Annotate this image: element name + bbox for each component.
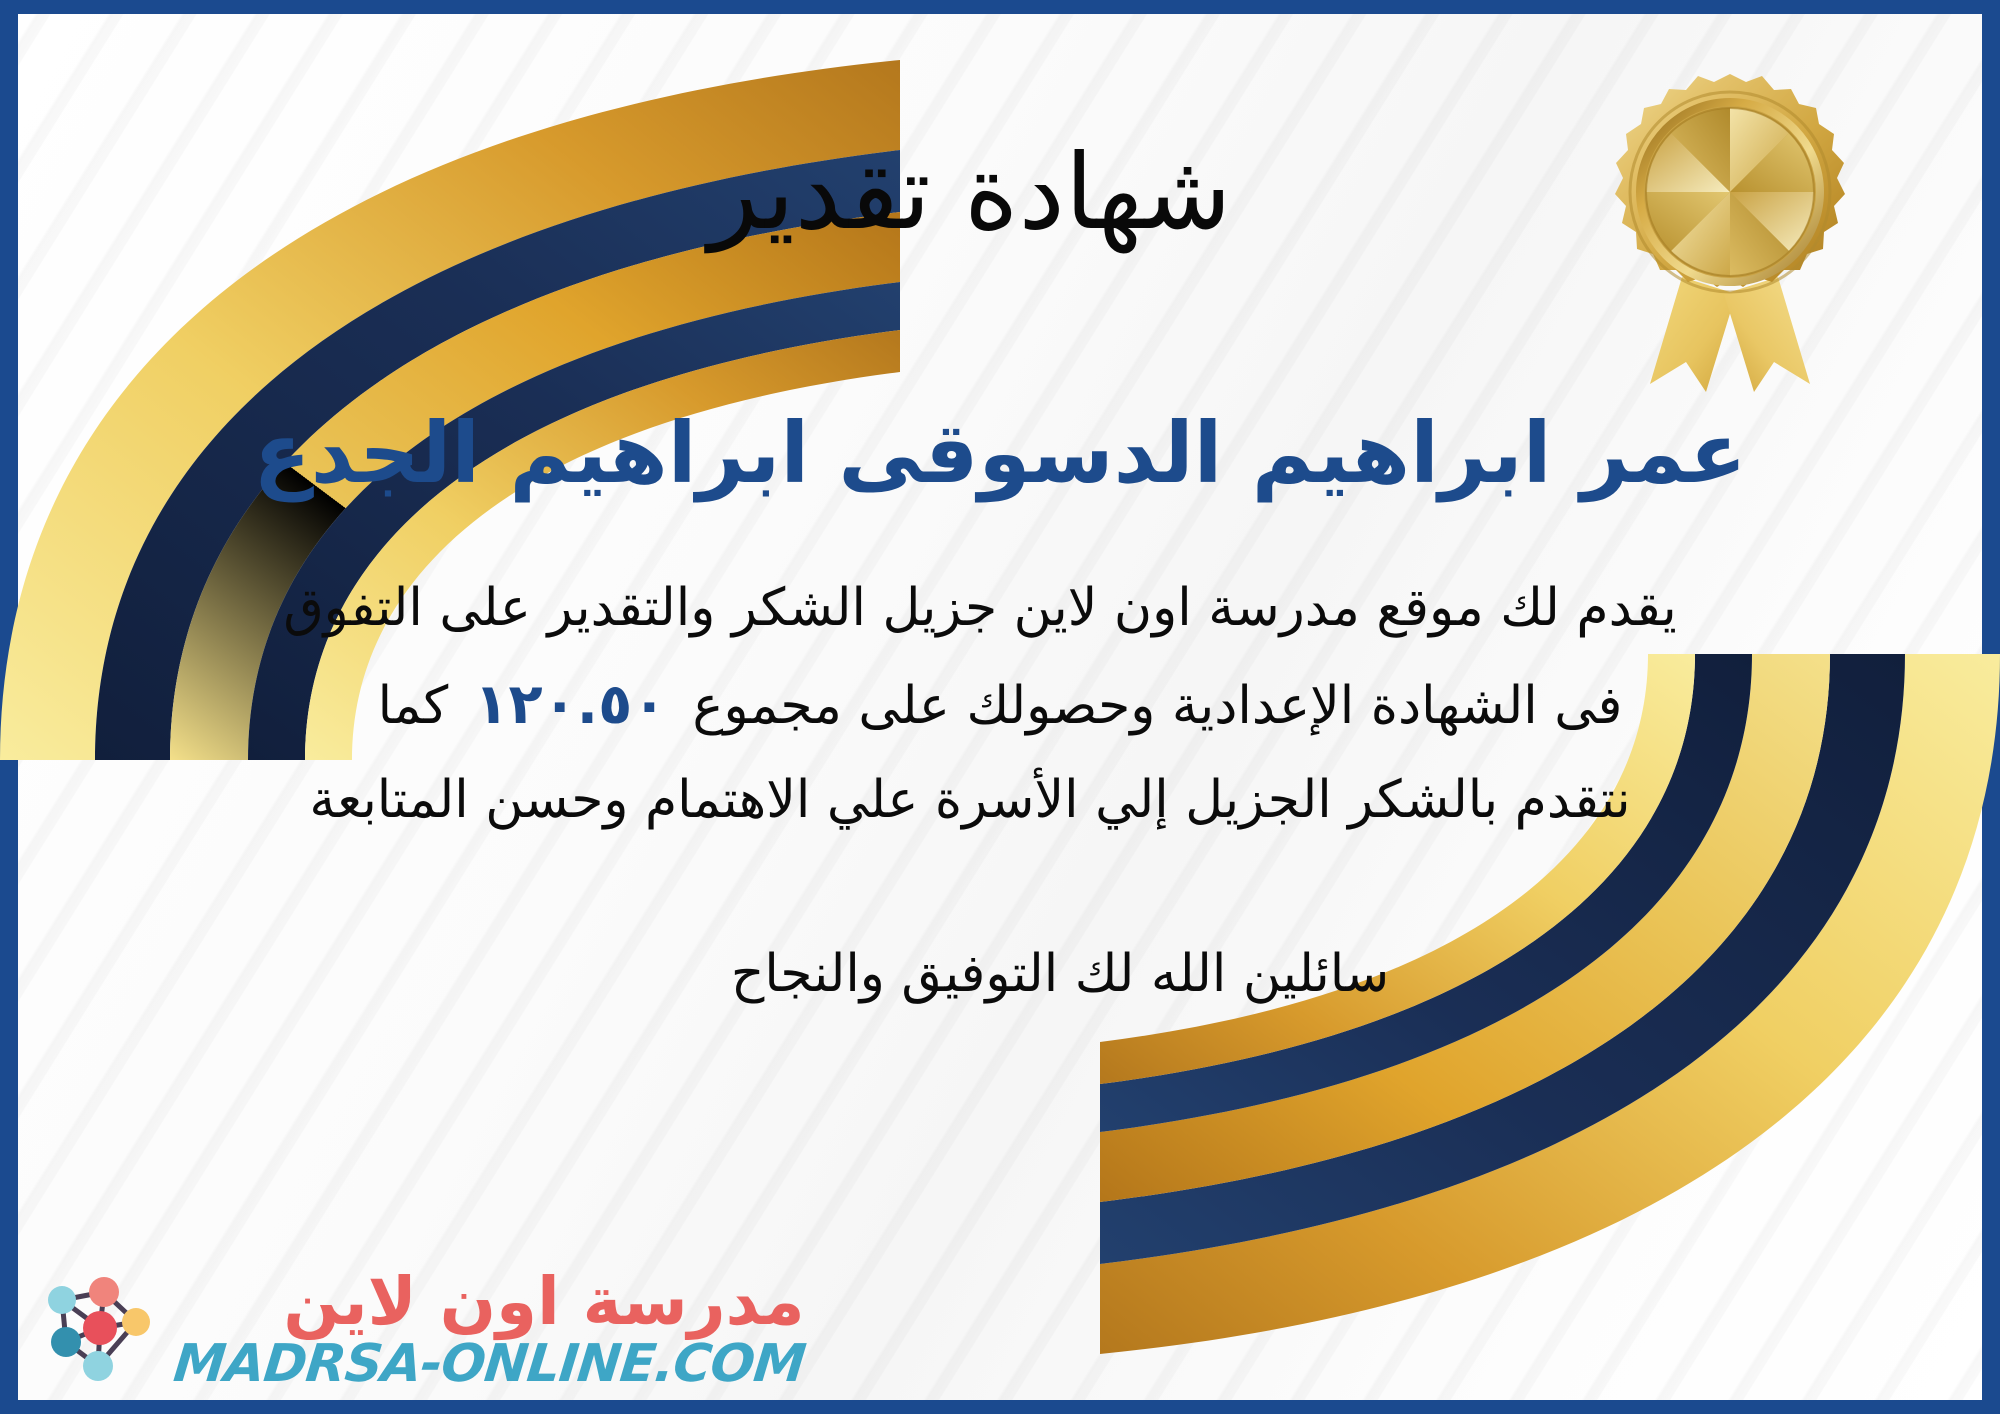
logo-website-url: MADRSA-ONLINE.COM — [171, 1337, 807, 1392]
network-nodes-icon — [32, 1266, 160, 1394]
body-line-2-suffix: كما — [378, 676, 449, 736]
student-name: عمر ابراهيم الدسوقى ابراهيم الجدع — [213, 406, 1786, 500]
certificate-body: يقدم لك موقع مدرسة اون لاين جزيل الشكر و… — [120, 562, 1880, 847]
body-line-3: نتقدم بالشكر الجزيل إلي الأسرة علي الاهت… — [120, 754, 1880, 847]
logo-arabic-name: مدرسة اون لاين — [283, 1268, 804, 1337]
closing-wish-text: سائلين الله لك التوفيق والنجاح — [611, 933, 1389, 1016]
site-logo[interactable]: مدرسة اون لاين MADRSA-ONLINE.COM — [32, 1266, 805, 1394]
logo-text: مدرسة اون لاين MADRSA-ONLINE.COM — [174, 1268, 805, 1391]
award-medal-icon — [1610, 62, 1850, 392]
body-line-2-prefix: فى الشهادة الإعدادية وحصولك على مجموع — [692, 676, 1622, 736]
body-line-1: يقدم لك موقع مدرسة اون لاين جزيل الشكر و… — [120, 562, 1880, 655]
body-line-2: فى الشهادة الإعدادية وحصولك على مجموع١٢٠… — [120, 655, 1880, 755]
certificate-canvas: شهادة تقدير عمر ابراهيم الدسوقى ابراهيم … — [0, 0, 2000, 1414]
total-score-value: ١٢٠.٥٠ — [448, 672, 692, 737]
certificate-title: شهادة تقدير — [708, 138, 1291, 246]
